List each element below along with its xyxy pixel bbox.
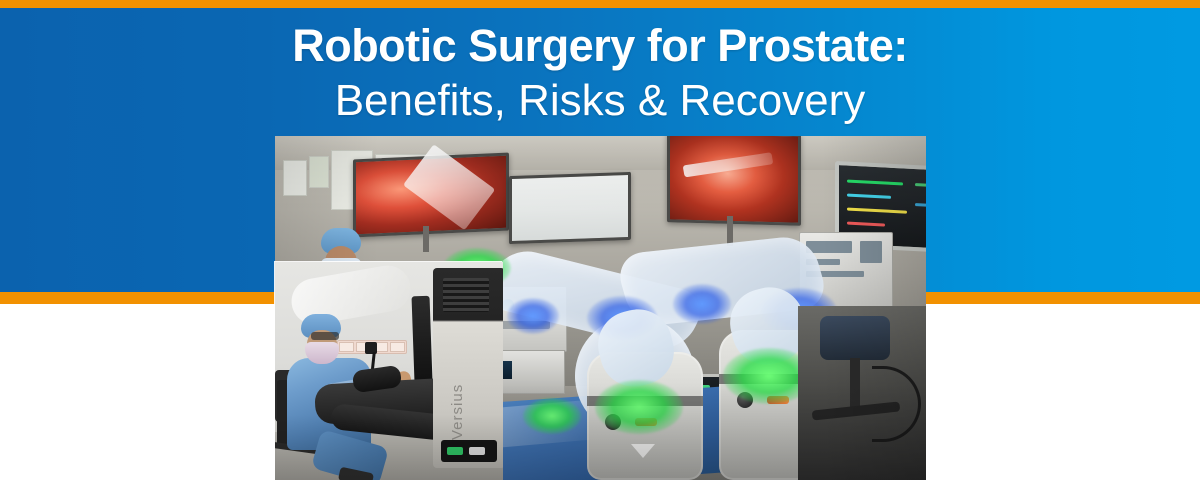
- article-hero-banner: Robotic Surgery for Prostate: Benefits, …: [0, 0, 1200, 480]
- robotic-arm-status-light-green: [523, 398, 581, 434]
- tower-display: [806, 241, 852, 253]
- stool-seat: [820, 316, 890, 360]
- console-display-edge: [412, 296, 433, 383]
- robotic-arm-status-light-blue: [673, 284, 731, 324]
- vitals-trace-resp: [847, 208, 907, 214]
- wall-socket: [390, 342, 405, 352]
- surgeon-eyewear: [311, 332, 339, 340]
- vitals-trace-ecg: [847, 180, 903, 186]
- robotic-arm-status-light-green: [595, 380, 683, 434]
- endoscopic-monitor-right: [667, 136, 801, 226]
- vitals-trace-bp: [847, 222, 885, 227]
- monitor-stalk: [423, 226, 429, 252]
- theatre-stool-and-cabling: [798, 306, 926, 480]
- wall-notice: [283, 160, 307, 196]
- console-control-panel[interactable]: [441, 440, 497, 462]
- surgeon-console-inset-photo: Versius: [275, 262, 503, 480]
- monitor-stalk: [727, 216, 733, 246]
- tower-dial: [860, 241, 882, 263]
- vitals-trace-spo2: [847, 194, 891, 199]
- panel-indicator-white: [469, 447, 485, 455]
- robotic-arm-status-light-blue: [507, 298, 559, 334]
- console-vent: [443, 278, 489, 312]
- cart-direction-marker: [631, 444, 655, 458]
- top-accent-rule: [0, 0, 1200, 8]
- endoscopic-monitor-left: [353, 153, 509, 238]
- wall-notice: [309, 156, 329, 188]
- vitals-readout-green: [915, 183, 926, 187]
- vitals-readout-blue: [915, 203, 926, 207]
- versius-console-tower: Versius: [433, 268, 503, 468]
- secondary-display-monitor: [509, 172, 631, 244]
- console-brand-label: Versius: [449, 344, 463, 440]
- equipment-cable: [872, 366, 921, 442]
- panel-indicator-green: [447, 447, 463, 455]
- stool-post: [850, 358, 860, 410]
